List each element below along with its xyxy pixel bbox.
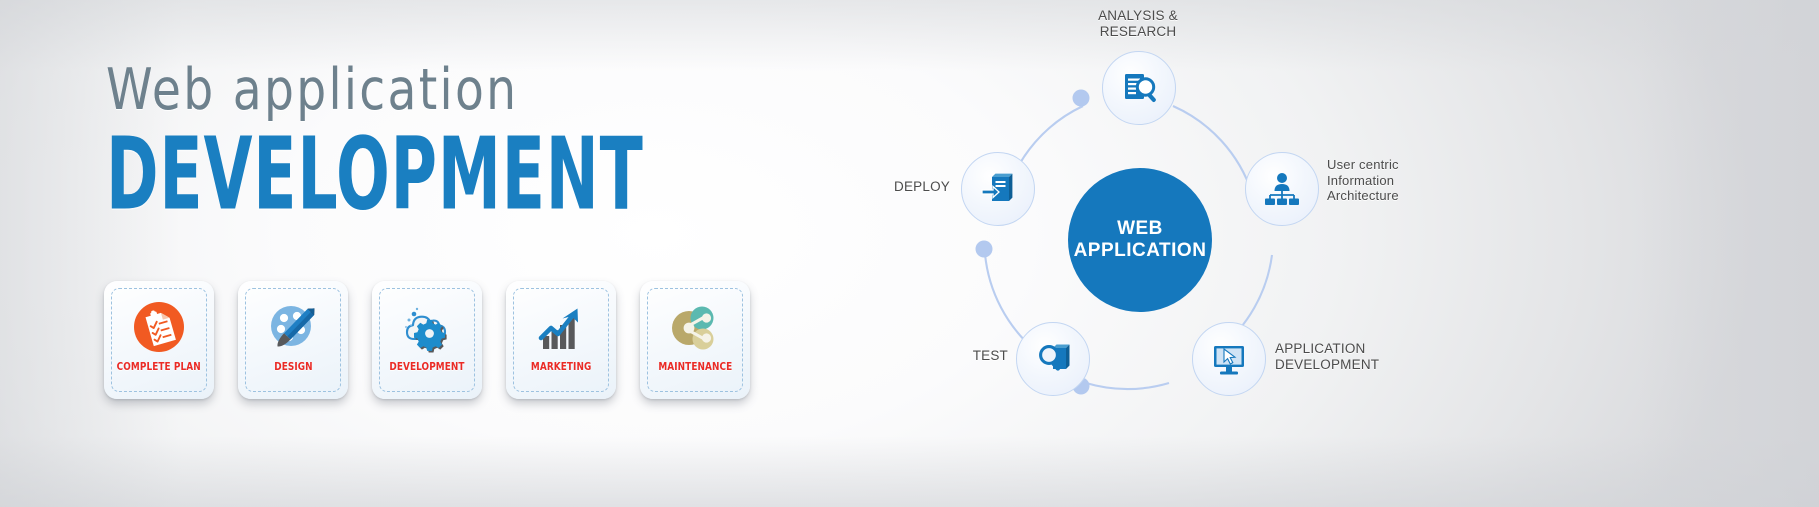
- org-chart-user-icon: [1262, 169, 1302, 209]
- headline-title: DEVELOPMENT: [106, 125, 644, 224]
- deploy-box-arrow-icon: [978, 169, 1018, 209]
- headline-block: Web application DEVELOPMENT: [106, 62, 778, 213]
- node-label-test: TEST: [910, 348, 1008, 364]
- center-label-line2: APPLICATION: [1074, 240, 1207, 262]
- node-label-deploy: DEPLOY: [850, 179, 950, 195]
- monitor-cursor-icon: [1209, 339, 1249, 379]
- card-complete-plan[interactable]: COMPLETE PLAN: [104, 281, 214, 399]
- card-label: MARKETING: [531, 361, 591, 373]
- node-label-information-architecture: User centric Information Architecture: [1327, 157, 1467, 204]
- web-application-development-banner: Web application DEVELOPMENT: [0, 0, 1819, 507]
- magnifier-box-icon: [1033, 339, 1073, 379]
- palette-brush-icon: [262, 297, 324, 359]
- center-circle-web-application: WEB APPLICATION: [1068, 168, 1212, 312]
- card-label: COMPLETE PLAN: [117, 361, 201, 373]
- share-nodes-icon: [664, 297, 726, 359]
- cloud-gear-icon: [396, 297, 458, 359]
- headline-subtitle: Web application: [106, 62, 724, 119]
- node-test[interactable]: [1016, 322, 1090, 396]
- node-deploy[interactable]: [961, 152, 1035, 226]
- node-information-architecture[interactable]: [1245, 152, 1319, 226]
- card-marketing[interactable]: MARKETING: [506, 281, 616, 399]
- node-analysis-research[interactable]: [1102, 51, 1176, 125]
- web-application-lifecycle-diagram: WEB APPLICATION ANALYSIS & RESEARCH: [880, 0, 1580, 507]
- service-cards: COMPLETE PLAN: [104, 281, 750, 399]
- card-label: DESIGN: [274, 361, 312, 373]
- node-label-analysis-research: ANALYSIS & RESEARCH: [1058, 8, 1218, 39]
- connector-arcs: [880, 0, 1580, 507]
- card-development[interactable]: DEVELOPMENT: [372, 281, 482, 399]
- document-magnifier-icon: [1119, 68, 1159, 108]
- card-design[interactable]: DESIGN: [238, 281, 348, 399]
- growth-chart-arrow-icon: [530, 297, 592, 359]
- node-application-development[interactable]: [1192, 322, 1266, 396]
- card-maintenance[interactable]: MAINTENANCE: [640, 281, 750, 399]
- card-label: MAINTENANCE: [658, 361, 732, 373]
- center-label-line1: WEB: [1117, 218, 1163, 240]
- node-label-application-development: APPLICATION DEVELOPMENT: [1275, 341, 1435, 372]
- card-label: DEVELOPMENT: [389, 361, 464, 373]
- clipboard-checklist-icon: [128, 297, 190, 359]
